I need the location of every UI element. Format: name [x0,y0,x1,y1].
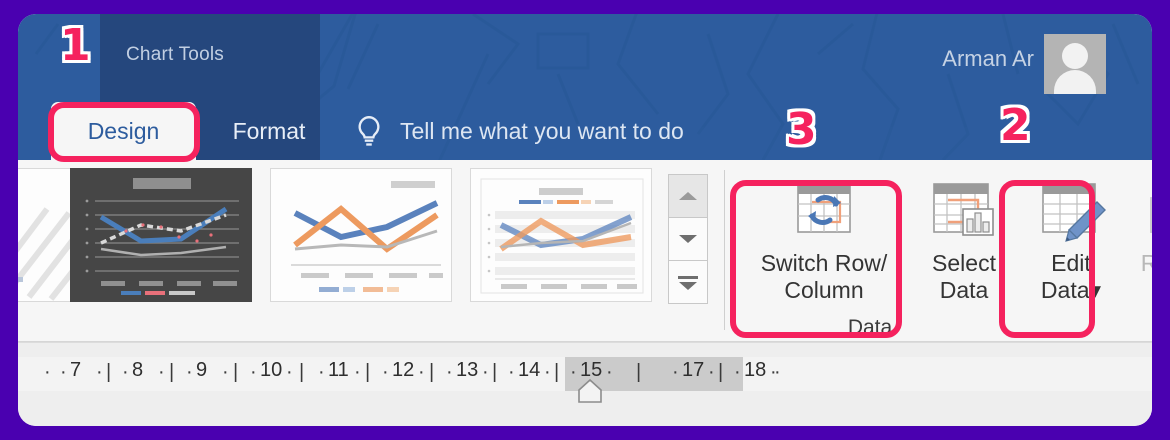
ruler-tick: · [96,361,103,384]
tab-format-label: Format [233,118,306,145]
gallery-more-button[interactable] [669,261,707,304]
ruler-tick: · [446,361,453,384]
ruler-tick: · [606,361,613,384]
chart-style-thumbnail-dark[interactable] [70,168,252,302]
chart-style-preview [71,169,252,302]
ruler-band: 7··|8··|9··|10··|11··|12··|13··|14··|15·… [18,342,1152,426]
tab-design-label: Design [88,118,160,145]
ribbon-body: Switch Row/ Column [18,160,1152,342]
annotation-number-3: 3 [786,104,817,155]
ruler-half-tick: | [429,361,434,384]
horizontal-ruler[interactable]: 7··|8··|9··|10··|11··|12··|13··|14··|15·… [18,357,1152,391]
ruler-tick: · [250,361,257,384]
ruler-number: 18 [744,359,766,382]
ruler-number: 9 [196,359,207,382]
chevron-up-icon [679,192,697,200]
chart-style-thumbnail[interactable] [470,168,652,302]
ruler-tick: · [482,361,489,384]
ruler-tick: · [774,361,781,384]
ruler-number: 14 [518,359,540,382]
chart-style-preview [271,169,452,302]
ruler-tick: · [734,361,741,384]
chart-style-thumbnail[interactable] [270,168,452,302]
ribbon-group-divider [724,170,725,330]
ruler-half-tick: | [169,361,174,384]
chevron-down-icon[interactable]: ▾ [1090,277,1102,303]
ruler-half-tick: | [718,361,723,384]
select-data-button[interactable]: Select Data [912,170,1016,304]
ruler-tick: · [418,361,425,384]
edit-data-button[interactable]: Edit Data▾ [1018,170,1124,304]
ruler-tick: · [186,361,193,384]
gallery-scroll-up-button[interactable] [669,175,707,218]
context-tab-title: Chart Tools [126,44,224,66]
ruler-tick: · [708,361,715,384]
ruler-half-tick: | [299,361,304,384]
ruler-tick: · [44,361,51,384]
select-data-label: Select Data [932,250,996,304]
ruler-number: 11 [328,359,349,382]
ruler-tick: · [122,361,129,384]
edit-data-icon [1031,178,1111,250]
ribbon-titlebar: Chart Tools Design Format Tell me what y… [18,14,1152,160]
avatar-body [1054,70,1096,94]
ruler-number: 12 [392,359,414,382]
ruler-number: 7 [70,359,81,382]
ruler-tick: · [382,361,389,384]
chevron-down-icon [679,235,697,243]
ruler-number: 13 [456,359,478,382]
refresh-data-button: Refresh Data [1126,170,1152,304]
refresh-data-label: Refresh Data [1141,250,1152,304]
ruler-number: 10 [260,359,282,382]
left-indent-marker[interactable] [576,377,604,403]
ruler-number: 8 [132,359,143,382]
ruler-half-tick: | [492,361,497,384]
word-window: Chart Tools Design Format Tell me what y… [18,14,1152,426]
annotated-screenshot-frame: Chart Tools Design Format Tell me what y… [0,0,1170,440]
ruler-half-tick: | [636,361,641,384]
ruler-half-tick: | [554,361,559,384]
data-group-label: Data [730,316,1010,340]
account-name[interactable]: Arman Ar [942,46,1034,72]
ruler-tick: · [222,361,229,384]
lightbulb-icon [352,114,386,148]
ruler-tick: · [158,361,165,384]
edit-data-label: Edit Data▾ [1041,250,1101,304]
ruler-tick: · [544,361,551,384]
switch-row-column-icon [784,178,864,250]
avatar-head [1062,43,1088,69]
ruler-tick: · [60,361,67,384]
ruler-half-tick: | [106,361,111,384]
ruler-tick: · [672,361,679,384]
select-data-icon [924,178,1004,250]
ruler-tick: · [286,361,293,384]
annotation-number-1: 1 [60,20,91,71]
annotation-number-2: 2 [1000,100,1031,151]
more-icon [678,276,698,290]
user-avatar-icon[interactable] [1044,34,1106,94]
tab-format[interactable]: Format [204,102,334,160]
gallery-scroll-down-button[interactable] [669,218,707,261]
ruler-tick: · [354,361,361,384]
tell-me-search[interactable]: Tell me what you want to do [340,102,684,160]
switch-row-column-button[interactable]: Switch Row/ Column [740,170,908,304]
gallery-scroll-buttons[interactable] [668,174,708,304]
ruler-tick: · [508,361,515,384]
ruler-number: 17 [682,359,704,382]
switch-row-column-label: Switch Row/ Column [761,250,888,304]
tell-me-label: Tell me what you want to do [400,118,684,145]
refresh-data-icon [1141,178,1152,250]
chart-style-preview [471,169,652,302]
ruler-half-tick: | [233,361,238,384]
ruler-half-tick: | [365,361,370,384]
tab-design[interactable]: Design [51,102,196,160]
ruler-tick: · [318,361,325,384]
